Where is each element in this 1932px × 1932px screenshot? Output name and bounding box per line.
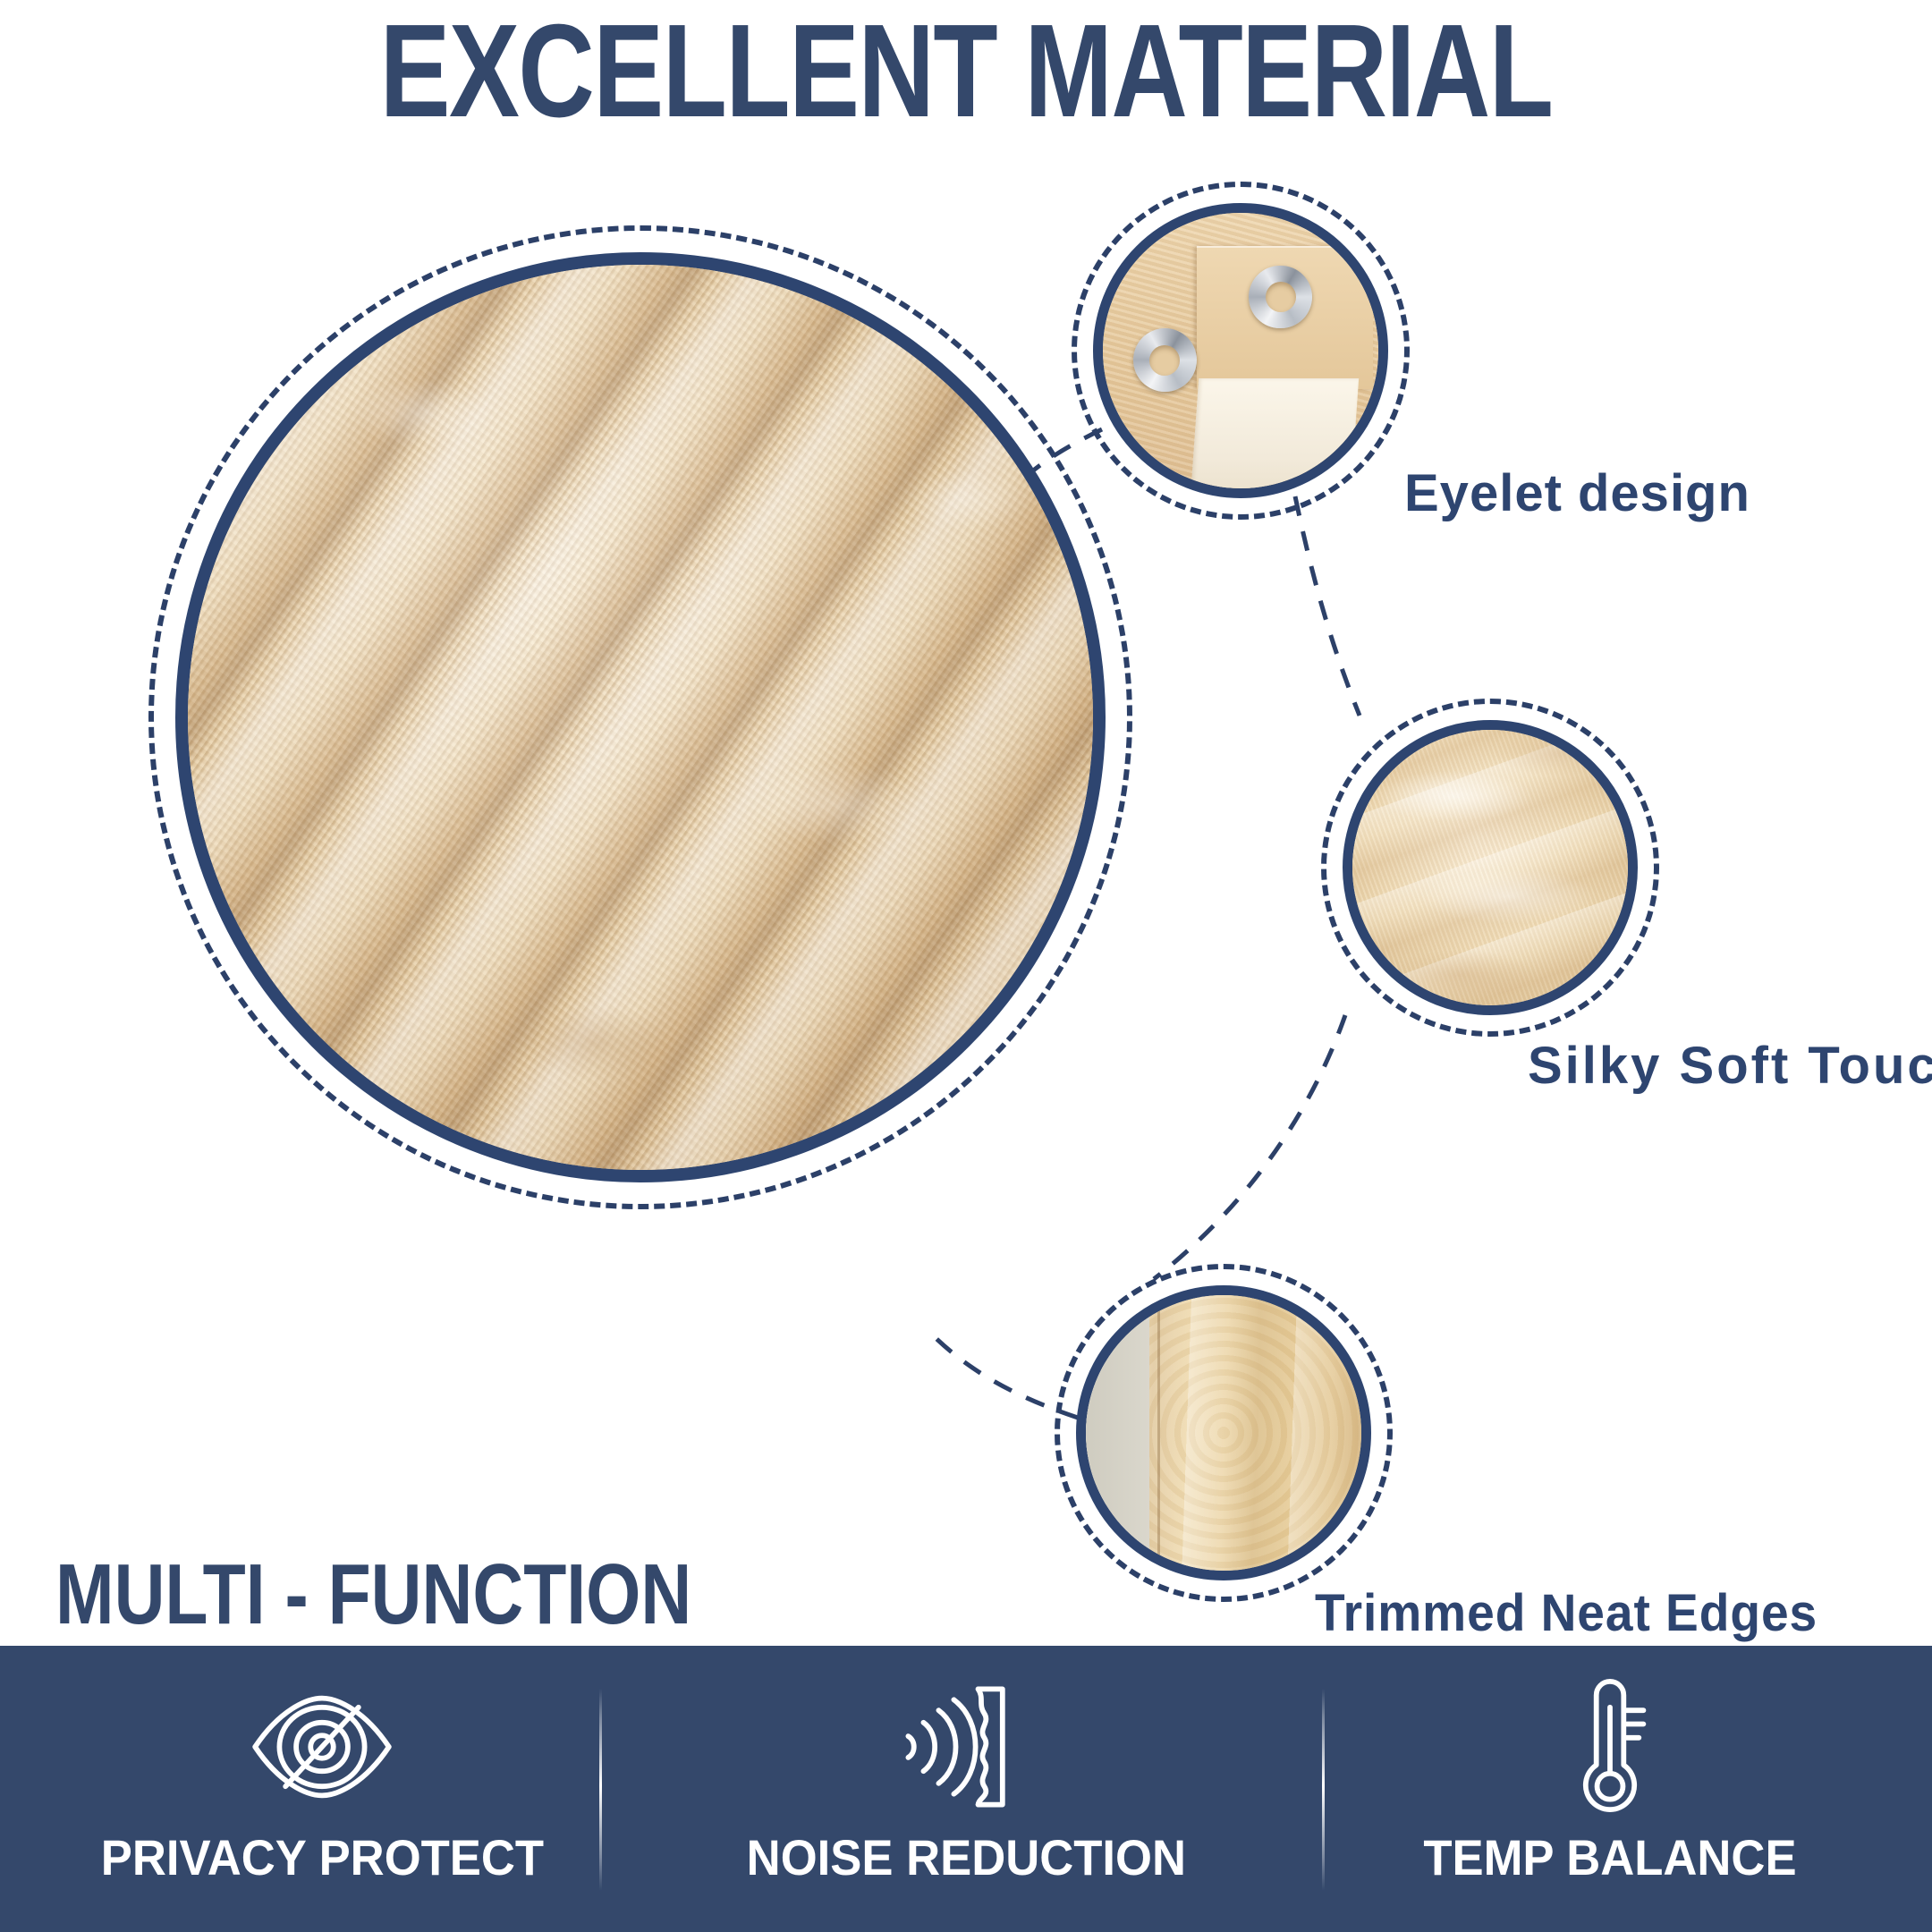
feature-temp-balance: TEMP BALANCE — [1288, 1646, 1932, 1932]
fabric-texture — [188, 265, 1093, 1170]
grommet-ring-icon — [1133, 328, 1197, 392]
eyelet-white-lining — [1189, 378, 1358, 498]
background-wall — [1086, 1295, 1149, 1571]
hem-stitch-line — [1157, 1295, 1160, 1571]
section-title-multi-function: MULTI - FUNCTION — [55, 1552, 691, 1638]
grommet-ring-icon — [1249, 266, 1312, 329]
eyelet-photo — [1093, 203, 1388, 498]
feature-label: PRIVACY PROTECT — [100, 1828, 543, 1886]
feature-label: TEMP BALANCE — [1423, 1828, 1796, 1886]
eye-slash-icon — [246, 1671, 398, 1823]
eyelet-fabric-texture — [1103, 213, 1378, 488]
main-fabric-photo — [175, 252, 1106, 1182]
trimmed-edges-label: Trimmed Neat Edges — [1315, 1588, 1818, 1640]
sound-wave-barrier-icon — [890, 1671, 1042, 1823]
eyelet-label: Eyelet design — [1404, 468, 1750, 520]
feature-privacy-protect: PRIVACY PROTECT — [0, 1646, 644, 1932]
infographic-canvas: EXCELLENT MATERIAL Eyelet design Silky S… — [0, 0, 1932, 1932]
banner-divider — [599, 1689, 602, 1891]
feature-noise-reduction: NOISE REDUCTION — [644, 1646, 1288, 1932]
feature-banner: PRIVACY PROTECT NOISE REDUCTION — [0, 1646, 1932, 1932]
thermometer-icon — [1534, 1671, 1686, 1823]
silky-photo — [1343, 720, 1638, 1015]
feature-label: NOISE REDUCTION — [746, 1828, 1185, 1886]
silky-fabric-texture — [1352, 730, 1628, 1005]
silky-label: Silky Soft Touch — [1528, 1040, 1932, 1092]
trim-fabric-texture — [1086, 1295, 1361, 1571]
trimmed-edge-photo — [1076, 1285, 1371, 1580]
